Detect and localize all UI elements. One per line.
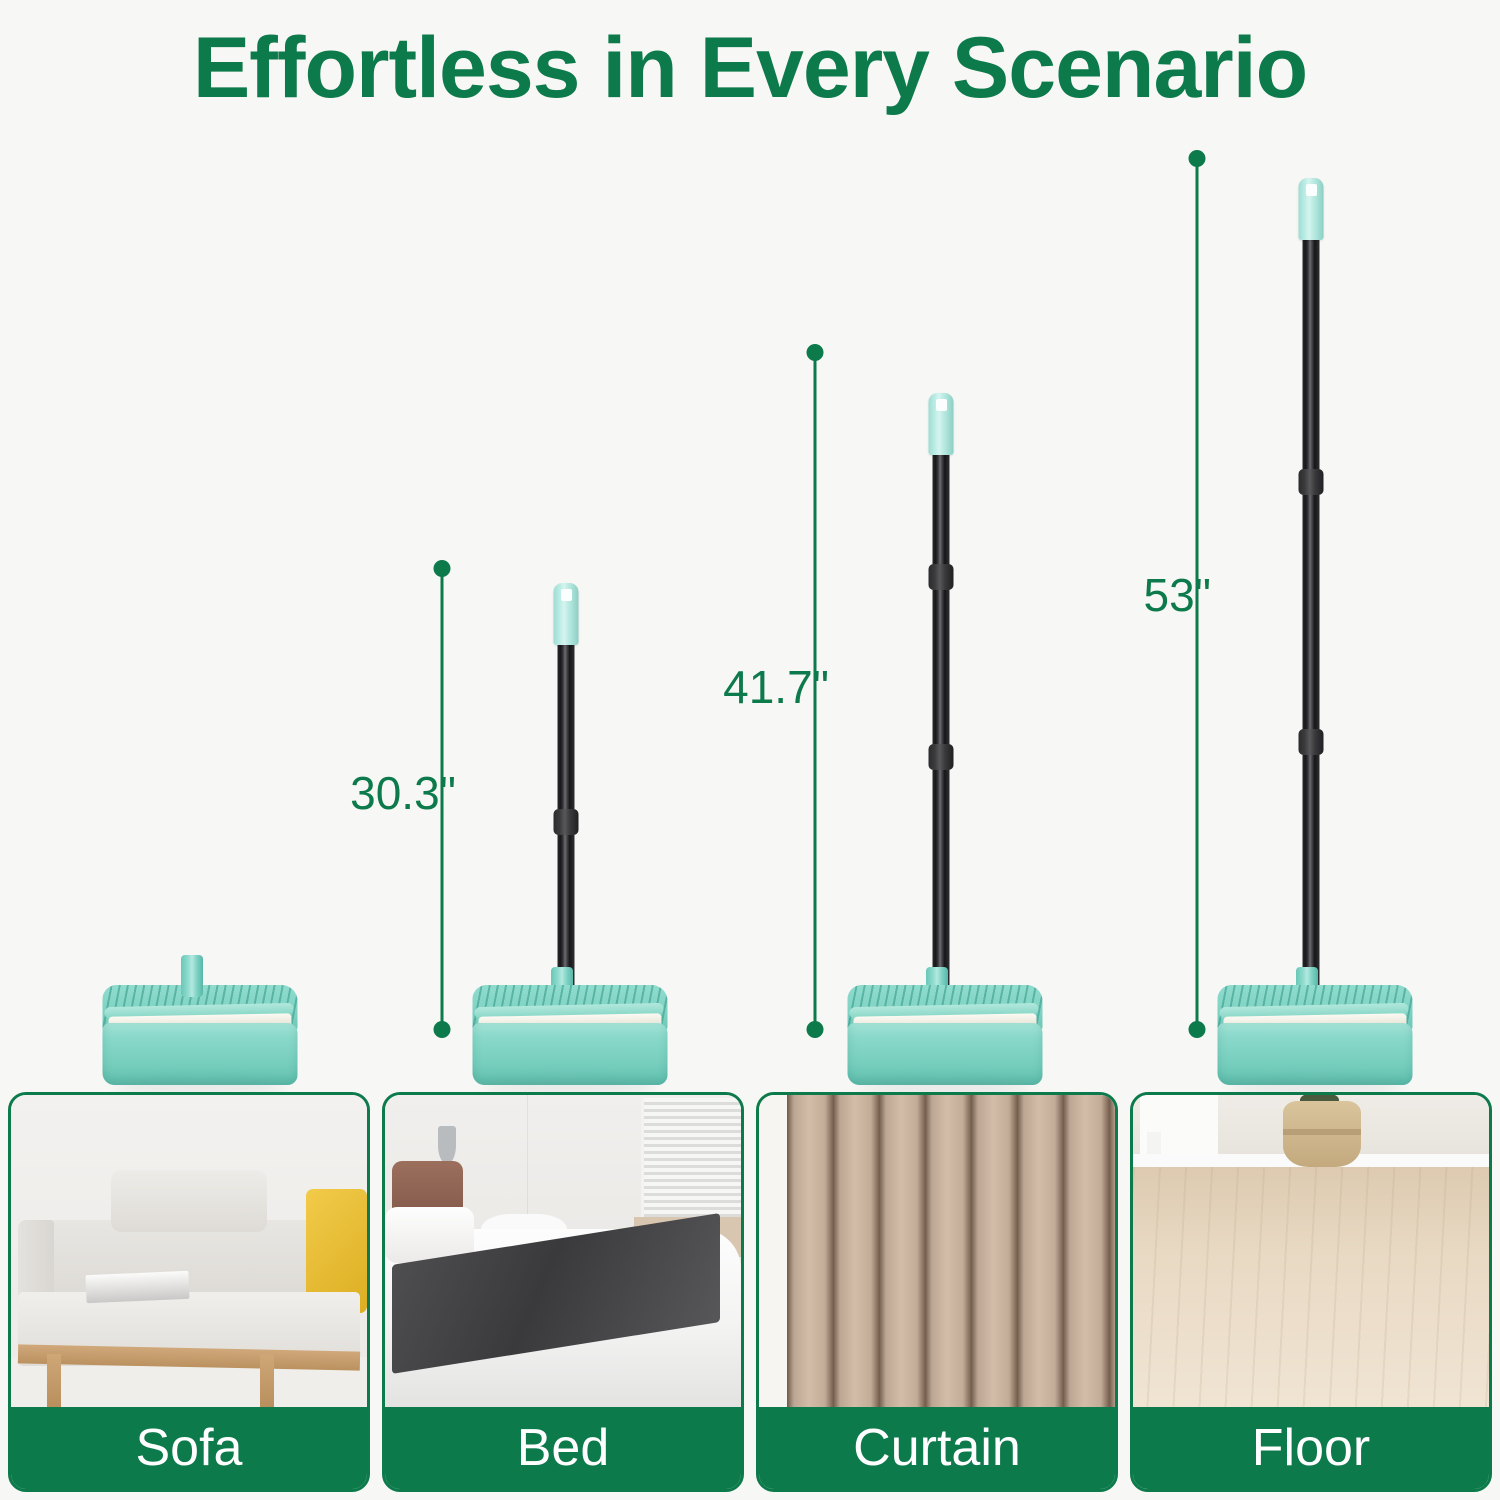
dimension-dot-top — [434, 560, 451, 577]
dimension-label: 41.7" — [723, 660, 829, 714]
pole-collar — [1299, 729, 1324, 755]
pole-handle-cap — [1299, 178, 1324, 240]
scenario-label-bed: Bed — [385, 1407, 741, 1489]
pole-handle-cap — [554, 583, 579, 645]
dimension-53: 53" — [1157, 158, 1237, 1030]
pole-collar — [1299, 469, 1324, 495]
mop-pole — [933, 437, 950, 997]
dimension-dot-bottom — [1189, 1021, 1206, 1038]
scenario-card-row: Sofa Bed Curtain — [8, 1092, 1492, 1492]
squeegee-head — [848, 985, 1043, 1085]
dimension-dot-bottom — [434, 1021, 451, 1038]
mop-pole — [1303, 225, 1320, 997]
squeegee-body — [848, 1023, 1043, 1085]
sofa-leg — [47, 1354, 61, 1407]
magazine — [85, 1271, 189, 1304]
product-squeegee-head-only — [100, 975, 300, 1085]
squeegee-head — [1218, 985, 1413, 1085]
wood-floor — [1133, 1167, 1489, 1407]
product-mop-30 — [470, 575, 670, 1085]
scenario-label-curtain: Curtain — [759, 1407, 1115, 1489]
squeegee-body — [103, 1023, 298, 1085]
curtain-photo — [759, 1095, 1115, 1407]
squeegee-head — [473, 985, 668, 1085]
squeegee-body — [473, 1023, 668, 1085]
pole-collar — [554, 809, 579, 835]
scenario-card-bed[interactable]: Bed — [382, 1092, 744, 1492]
dimension-label: 53" — [1144, 568, 1212, 622]
pole-collar — [929, 744, 954, 770]
dimension-dot-top — [1189, 150, 1206, 167]
sofa-photo — [11, 1095, 367, 1407]
dimension-41: 41.7" — [775, 352, 855, 1030]
scenario-card-curtain[interactable]: Curtain — [756, 1092, 1118, 1492]
curtain-folds — [787, 1095, 1115, 1407]
dimension-30: 30.3" — [402, 568, 482, 1030]
scenario-label-floor: Floor — [1133, 1407, 1489, 1489]
woven-basket — [1283, 1101, 1361, 1167]
squeegee-neck — [181, 955, 203, 997]
floor-photo — [1133, 1095, 1489, 1407]
sofa-back-cushion — [111, 1170, 268, 1232]
scenario-label-sofa: Sofa — [11, 1407, 367, 1489]
squeegee-head — [103, 985, 298, 1085]
scenario-card-floor[interactable]: Floor — [1130, 1092, 1492, 1492]
dimension-label: 30.3" — [350, 766, 456, 820]
product-comparison-stage: 30.3" 41.7" 53" — [0, 0, 1500, 1085]
product-mop-41 — [845, 385, 1045, 1085]
bed-photo — [385, 1095, 741, 1407]
dimension-dot-top — [807, 344, 824, 361]
squeegee-body — [1218, 1023, 1413, 1085]
window-blinds — [641, 1098, 741, 1223]
pole-collar — [929, 564, 954, 590]
wall-lamp — [438, 1126, 456, 1163]
dimension-dot-bottom — [807, 1021, 824, 1038]
product-mop-53 — [1215, 180, 1415, 1085]
pole-handle-cap — [929, 393, 954, 455]
scenario-card-sofa[interactable]: Sofa — [8, 1092, 370, 1492]
sofa-leg — [260, 1354, 274, 1407]
